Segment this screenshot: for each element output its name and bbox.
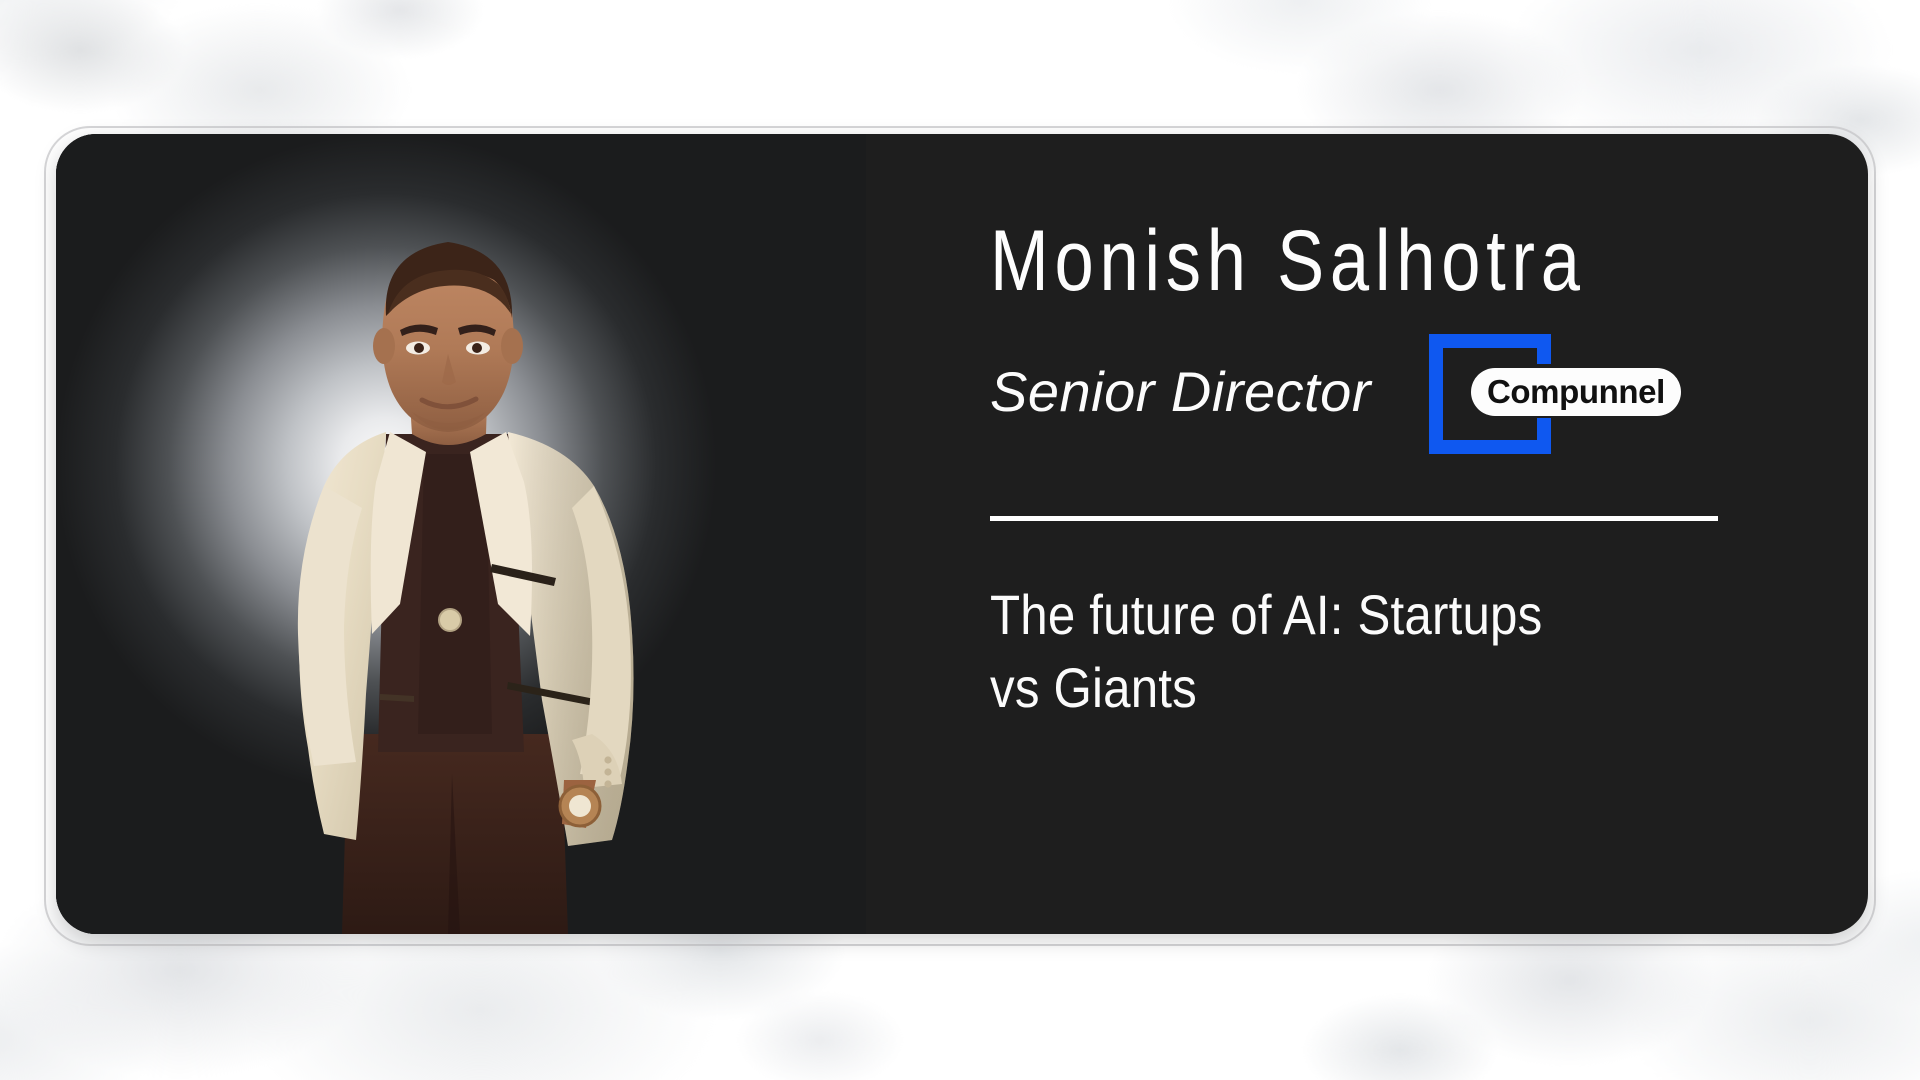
speaker-details-panel: Monish Salhotra Senior Director Compunne… (866, 134, 1868, 934)
role-and-logo-row: Senior Director Compunnel (990, 332, 1804, 452)
talk-topic-line-1: The future of AI: Startups (990, 579, 1553, 652)
logo-wordmark-pill: Compunnel (1471, 368, 1681, 416)
speaker-photo-panel (56, 134, 866, 934)
talk-topic-line-2: vs Giants (990, 652, 1553, 725)
speaker-name: Monish Salhotra (990, 218, 1657, 306)
speaker-card: Monish Salhotra Senior Director Compunne… (56, 134, 1868, 934)
speaker-portrait-image (56, 134, 866, 934)
logo-wordmark-text: Compunnel (1487, 373, 1665, 411)
speaker-role: Senior Director (990, 359, 1371, 424)
section-divider (990, 516, 1718, 521)
compunnel-logo: Compunnel (1415, 326, 1647, 458)
talk-topic: The future of AI: Startups vs Giants (990, 579, 1553, 725)
page-root: Monish Salhotra Senior Director Compunne… (0, 0, 1920, 1080)
